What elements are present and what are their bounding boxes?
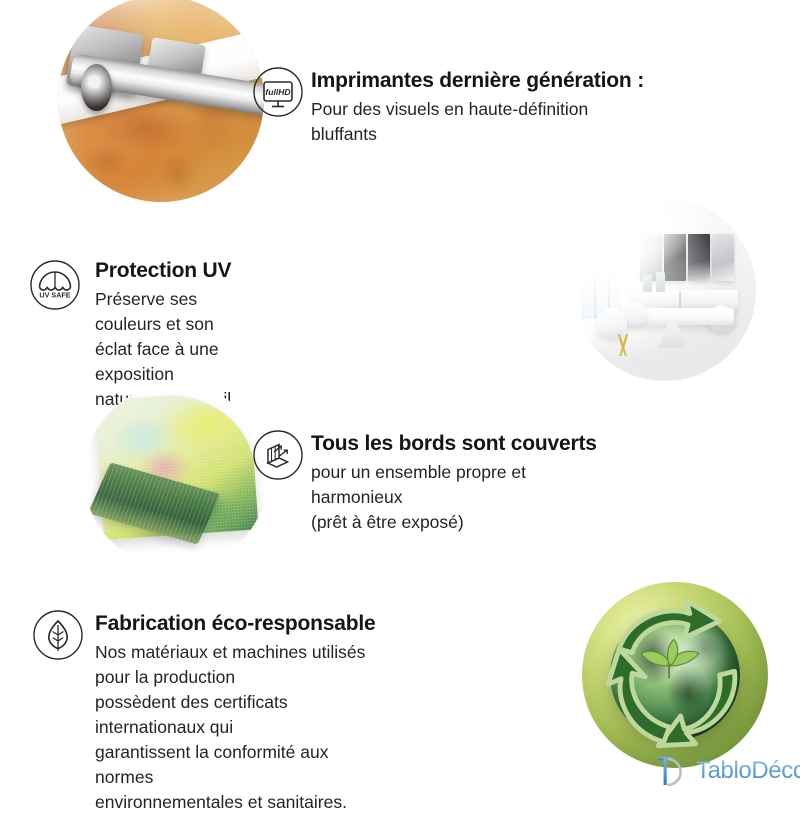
brand-name: TabloDéco bbox=[696, 757, 800, 784]
brand-logo[interactable]: TabloDéco ™ .fr bbox=[655, 754, 800, 788]
svg-text:fullHD: fullHD bbox=[265, 87, 290, 97]
sunlight-glare bbox=[574, 199, 756, 381]
leaf-icon bbox=[32, 609, 84, 661]
td-monogram-icon bbox=[655, 754, 689, 788]
svg-text:UV SAFE: UV SAFE bbox=[39, 291, 70, 300]
feature-impression-body: Pour des visuels en haute-définition blu… bbox=[311, 97, 644, 147]
covered-edges-icon bbox=[252, 429, 304, 481]
infographic-canvas: fullHD Imprimantes dernière génération :… bbox=[0, 0, 800, 800]
feature-bords-body: pour un ensemble propre et harmonieux (p… bbox=[311, 460, 597, 535]
feature-bords-title: Tous les bords sont couverts bbox=[311, 431, 597, 457]
canvas-photo-base bbox=[84, 384, 268, 568]
feature-photo-eco bbox=[582, 582, 768, 768]
uv-safe-umbrella-icon: UV SAFE bbox=[29, 259, 81, 311]
feature-photo-canvas bbox=[84, 384, 268, 568]
feature-impression-text: Imprimantes dernière génération : Pour d… bbox=[311, 68, 644, 147]
feature-impression-title: Imprimantes dernière génération : bbox=[311, 68, 644, 94]
feature-bords-text: Tous les bords sont couverts pour un ens… bbox=[311, 431, 597, 535]
feature-photo-room bbox=[574, 199, 756, 381]
feature-eco-title: Fabrication éco-responsable bbox=[95, 611, 376, 637]
fullhd-monitor-icon: fullHD bbox=[252, 66, 304, 118]
eco-photo-base bbox=[582, 582, 768, 768]
leaf-sprout bbox=[630, 634, 708, 682]
feature-eco-body: Nos matériaux et machines utilisés pour … bbox=[95, 640, 376, 815]
room-photo-base bbox=[574, 199, 756, 381]
printer-roller-hub bbox=[81, 64, 112, 111]
feature-uv-title: Protection UV bbox=[95, 258, 231, 284]
brand-wordmark: TabloDéco ™ bbox=[696, 758, 800, 784]
feature-eco-text: Fabrication éco-responsable Nos matériau… bbox=[95, 611, 376, 815]
feature-photo-printer bbox=[58, 0, 264, 202]
